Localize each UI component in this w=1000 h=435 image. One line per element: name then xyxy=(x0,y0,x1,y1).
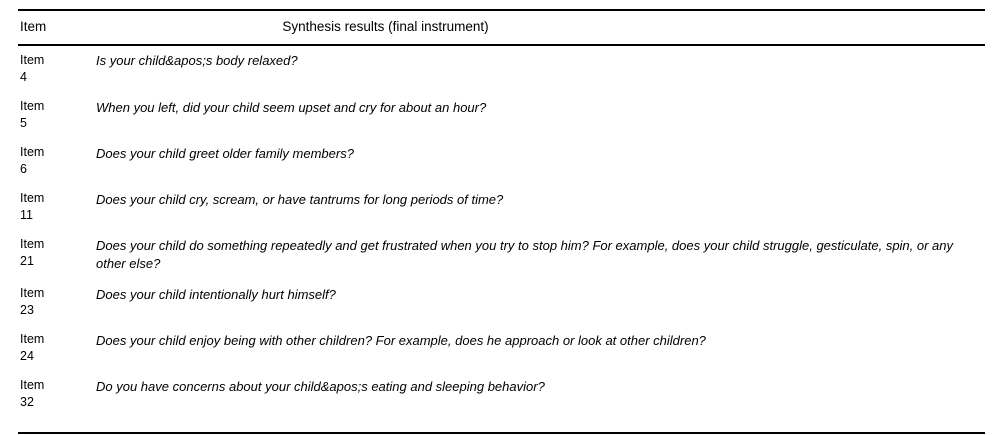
row-synthesis-text: When you left, did your child seem upset… xyxy=(96,91,985,137)
row-item-label: Item 32 xyxy=(18,370,96,416)
item-word: Item xyxy=(20,285,96,302)
column-header-item: Item xyxy=(18,11,96,45)
item-word: Item xyxy=(20,236,96,253)
row-synthesis-text: Does your child do something repeatedly … xyxy=(96,229,985,278)
header-row: Item Synthesis results (final instrument… xyxy=(18,11,985,45)
item-word: Item xyxy=(20,98,96,115)
item-word: Item xyxy=(20,52,96,69)
row-synthesis-text: Does your child enjoy being with other c… xyxy=(96,324,985,370)
item-word: Item xyxy=(20,377,96,394)
row-synthesis-text: Does your child greet older family membe… xyxy=(96,137,985,183)
synthesis-results-table: Item Synthesis results (final instrument… xyxy=(18,11,985,432)
table-row: Item 32 Do you have concerns about your … xyxy=(18,370,985,416)
item-number: 24 xyxy=(20,348,96,365)
row-item-label: Item 21 xyxy=(18,229,96,278)
item-word: Item xyxy=(20,331,96,348)
item-number: 11 xyxy=(20,207,96,224)
item-word: Item xyxy=(20,190,96,207)
table-top-rule xyxy=(18,0,985,11)
row-synthesis-text: Does your child cry, scream, or have tan… xyxy=(96,183,985,229)
table-row: Item 5 When you left, did your child see… xyxy=(18,91,985,137)
column-header-synthesis-results: Synthesis results (final instrument) xyxy=(96,11,985,45)
row-item-label: Item 24 xyxy=(18,324,96,370)
item-word: Item xyxy=(20,144,96,161)
synthesis-table-container: Item Synthesis results (final instrument… xyxy=(18,0,985,435)
row-item-label: Item 11 xyxy=(18,183,96,229)
row-item-label: Item 4 xyxy=(18,45,96,91)
spacer xyxy=(18,416,985,432)
item-number: 4 xyxy=(20,69,96,86)
row-synthesis-text: Do you have concerns about your child&ap… xyxy=(96,370,985,416)
table-body: Item 4 Is your child&apos;s body relaxed… xyxy=(18,45,985,432)
row-synthesis-text: Does your child intentionally hurt himse… xyxy=(96,278,985,324)
row-item-label: Item 23 xyxy=(18,278,96,324)
row-synthesis-text: Is your child&apos;s body relaxed? xyxy=(96,45,985,91)
table-row: Item 24 Does your child enjoy being with… xyxy=(18,324,985,370)
table-row: Item 6 Does your child greet older famil… xyxy=(18,137,985,183)
item-number: 32 xyxy=(20,394,96,411)
row-item-label: Item 5 xyxy=(18,91,96,137)
table-row: Item 23 Does your child intentionally hu… xyxy=(18,278,985,324)
item-number: 6 xyxy=(20,161,96,178)
table-row: Item 11 Does your child cry, scream, or … xyxy=(18,183,985,229)
table-row: Item 4 Is your child&apos;s body relaxed… xyxy=(18,45,985,91)
item-number: 23 xyxy=(20,302,96,319)
table-header: Item Synthesis results (final instrument… xyxy=(18,11,985,45)
item-number: 21 xyxy=(20,253,96,270)
table-row: Item 21 Does your child do something rep… xyxy=(18,229,985,278)
row-item-label: Item 6 xyxy=(18,137,96,183)
table-bottom-spacer xyxy=(18,416,985,432)
item-number: 5 xyxy=(20,115,96,132)
